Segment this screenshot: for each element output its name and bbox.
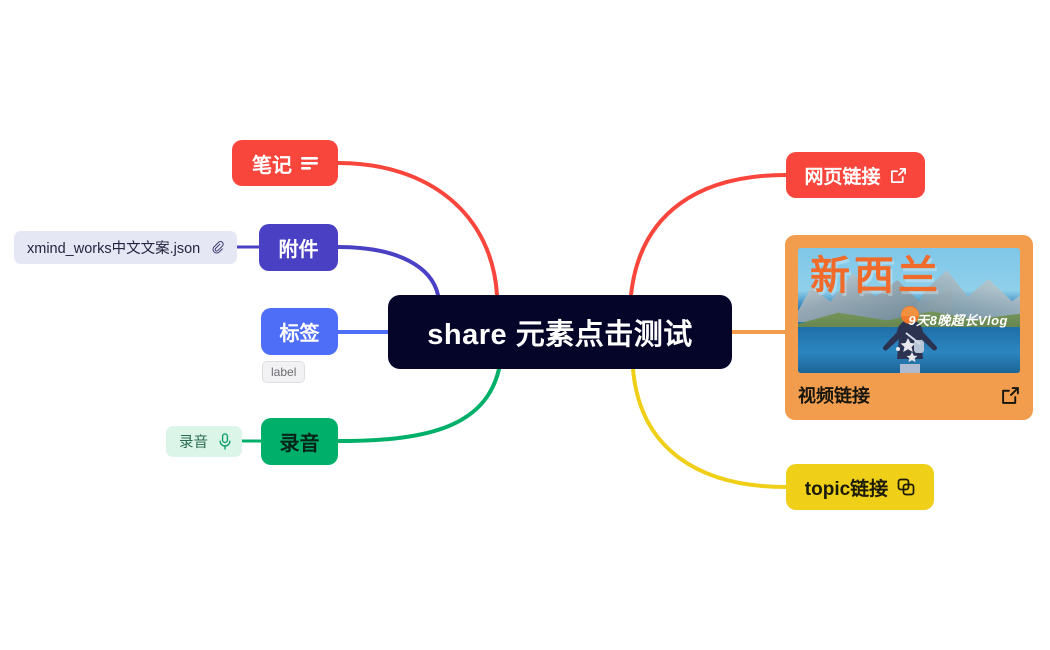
recording-node[interactable]: 录音: [261, 418, 338, 465]
attachment-file-chip[interactable]: xmind_works中文文案.json: [14, 231, 237, 264]
central-topic-label: share 元素点击测试: [427, 311, 692, 353]
web-link-node[interactable]: 网页链接: [786, 152, 925, 198]
microphone-icon[interactable]: [218, 433, 232, 450]
note-node-label: 笔记: [252, 149, 292, 178]
topic-link-icon[interactable]: [897, 478, 915, 496]
video-link-label: 视频链接: [798, 382, 870, 408]
central-topic-node[interactable]: share 元素点击测试: [388, 295, 732, 369]
video-link-caption: 视频链接: [798, 382, 1020, 408]
attachment-node[interactable]: 附件: [259, 224, 338, 271]
tag-node-label: 标签: [280, 317, 320, 346]
topic-link-node-label: topic链接: [805, 474, 888, 501]
mindmap-canvas[interactable]: share 元素点击测试 笔记 xmind_works中文文案.json 附件 …: [0, 0, 1050, 650]
topic-link-node[interactable]: topic链接: [786, 464, 934, 510]
external-link-icon[interactable]: [1001, 386, 1020, 405]
attachment-node-label: 附件: [279, 233, 319, 262]
thumbnail-title: 新西兰: [810, 256, 942, 296]
video-link-node[interactable]: 新西兰 9天8晚超长Vlog 视频链接: [785, 235, 1033, 420]
attachment-file-name: xmind_works中文文案.json: [27, 237, 200, 258]
note-node[interactable]: 笔记: [232, 140, 338, 186]
paperclip-icon[interactable]: [210, 240, 226, 256]
recording-audio-chip-text: 录音: [179, 431, 208, 452]
external-link-icon[interactable]: [890, 167, 907, 184]
recording-node-label: 录音: [280, 427, 320, 456]
recording-audio-chip[interactable]: 录音: [166, 426, 242, 457]
tag-node[interactable]: 标签: [261, 308, 338, 355]
tag-label-chip[interactable]: label: [262, 361, 305, 383]
tag-label-chip-text: label: [271, 365, 296, 379]
thumbnail-subtitle: 9天8晚超长Vlog: [908, 310, 1008, 329]
note-lines-icon[interactable]: [301, 156, 318, 170]
web-link-node-label: 网页链接: [804, 162, 880, 189]
video-thumbnail[interactable]: 新西兰 9天8晚超长Vlog: [798, 248, 1020, 373]
